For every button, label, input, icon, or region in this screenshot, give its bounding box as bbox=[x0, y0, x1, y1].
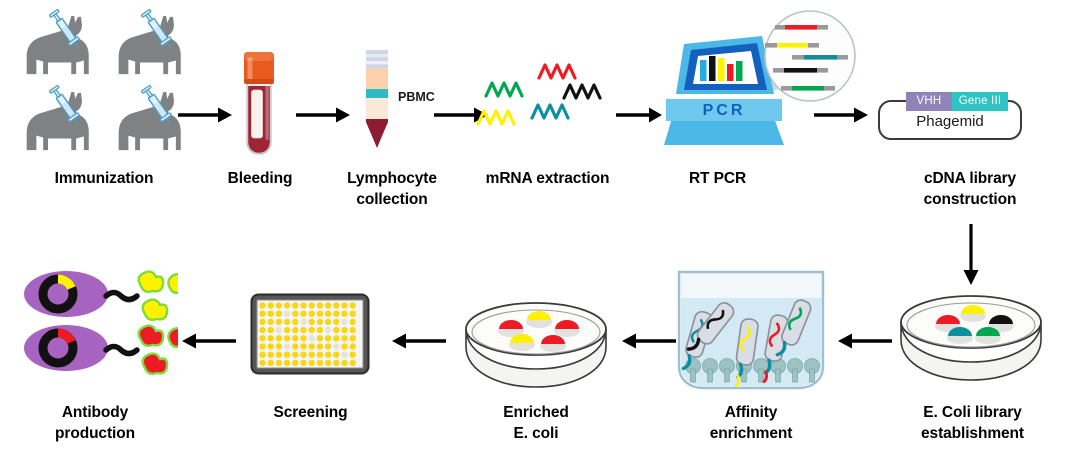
arrow-affinity-to-enriched bbox=[622, 330, 678, 352]
well bbox=[317, 327, 323, 333]
well bbox=[292, 302, 298, 308]
step-label-bleeding: Bleeding bbox=[195, 169, 325, 190]
well bbox=[276, 343, 282, 349]
well bbox=[309, 302, 315, 308]
well bbox=[292, 343, 298, 349]
red-antibody-products bbox=[139, 326, 178, 374]
well bbox=[276, 352, 282, 358]
well bbox=[268, 302, 274, 308]
antibody-production-icon-group bbox=[18, 268, 178, 393]
well bbox=[317, 335, 323, 341]
well bbox=[309, 319, 315, 325]
well bbox=[284, 360, 290, 366]
well bbox=[317, 302, 323, 308]
immunization-icon-group bbox=[14, 8, 194, 160]
step-label-cdna-library: cDNA library construction bbox=[890, 169, 1050, 211]
well bbox=[341, 352, 347, 358]
well bbox=[276, 327, 282, 333]
blood-collection-tube-icon bbox=[232, 48, 286, 160]
well bbox=[341, 302, 347, 308]
well bbox=[292, 360, 298, 366]
well bbox=[350, 352, 356, 358]
step-label-affinity-enrichment: Affinity enrichment bbox=[672, 403, 830, 445]
well bbox=[284, 335, 290, 341]
well bbox=[325, 343, 331, 349]
well bbox=[317, 352, 323, 358]
well bbox=[350, 311, 356, 317]
well bbox=[284, 352, 290, 358]
well bbox=[259, 352, 265, 358]
well bbox=[300, 311, 306, 317]
petri-dish-icon bbox=[895, 288, 1047, 392]
pcr-thermocycler-icon: PCR bbox=[662, 6, 862, 156]
step-label-lymphocyte-collection: Lymphocyte collection bbox=[320, 169, 464, 211]
well bbox=[325, 302, 331, 308]
step-label-antibody-production: Antibody production bbox=[15, 403, 175, 445]
well bbox=[350, 319, 356, 325]
well bbox=[341, 319, 347, 325]
mrna-extraction-icon-group bbox=[476, 58, 612, 149]
well bbox=[300, 343, 306, 349]
well bbox=[309, 360, 315, 366]
ecoli-library-icon-group bbox=[895, 288, 1047, 397]
affinity-enrichment-icon-group bbox=[673, 270, 829, 397]
well bbox=[333, 311, 339, 317]
well bbox=[292, 327, 298, 333]
well bbox=[333, 302, 339, 308]
well bbox=[309, 327, 315, 333]
arrow-immunization-to-bleeding bbox=[176, 104, 234, 126]
arrow-ecoli-to-affinity bbox=[838, 330, 894, 352]
well bbox=[259, 302, 265, 308]
arrow-enriched-to-screening bbox=[392, 330, 448, 352]
well bbox=[276, 319, 282, 325]
phagemid-segment-vhh: VHH bbox=[906, 92, 952, 111]
well bbox=[325, 311, 331, 317]
well bbox=[292, 352, 298, 358]
rt-pcr-icon-group: PCR bbox=[662, 6, 862, 161]
bleeding-icon-group bbox=[232, 48, 286, 165]
well bbox=[341, 335, 347, 341]
well bbox=[300, 319, 306, 325]
well bbox=[309, 335, 315, 341]
step-label-rt-pcr: RT PCR bbox=[640, 169, 795, 190]
well bbox=[350, 360, 356, 366]
alpaca-with-syringe-icon bbox=[14, 8, 194, 160]
well bbox=[268, 335, 274, 341]
well bbox=[292, 319, 298, 325]
step-label-immunization: Immunization bbox=[14, 169, 194, 190]
well bbox=[341, 360, 347, 366]
well bbox=[325, 335, 331, 341]
step-label-mrna-extraction: mRNA extraction bbox=[465, 169, 630, 190]
well bbox=[259, 319, 265, 325]
yellow-antibody-products bbox=[139, 272, 178, 320]
phage-panning-well-icon bbox=[673, 270, 829, 392]
yellow-clone-cell bbox=[24, 271, 137, 317]
well bbox=[259, 335, 265, 341]
mrna-strands-icon bbox=[476, 58, 612, 144]
well bbox=[268, 360, 274, 366]
well bbox=[276, 311, 282, 317]
well bbox=[259, 343, 265, 349]
well bbox=[268, 311, 274, 317]
well bbox=[309, 311, 315, 317]
well bbox=[276, 302, 282, 308]
step-label-ecoli-library: E. Coli library establishment bbox=[890, 403, 1055, 445]
well bbox=[268, 319, 274, 325]
well bbox=[333, 335, 339, 341]
pbmc-band-label: PBMC bbox=[398, 90, 435, 104]
well bbox=[300, 352, 306, 358]
well bbox=[309, 352, 315, 358]
well bbox=[333, 343, 339, 349]
well bbox=[350, 335, 356, 341]
well bbox=[300, 360, 306, 366]
well bbox=[284, 302, 290, 308]
well bbox=[333, 360, 339, 366]
well bbox=[317, 343, 323, 349]
well bbox=[268, 352, 274, 358]
screening-icon-group bbox=[250, 293, 370, 380]
well bbox=[341, 327, 347, 333]
well bbox=[333, 319, 339, 325]
well bbox=[284, 319, 290, 325]
cdna-library-icon-group: VHH Gene III Phagemid bbox=[878, 92, 1022, 140]
well bbox=[284, 327, 290, 333]
petri-dish-icon bbox=[460, 295, 612, 399]
well bbox=[268, 343, 274, 349]
well bbox=[325, 360, 331, 366]
pcr-machine-text: PCR bbox=[703, 102, 746, 119]
well bbox=[317, 311, 323, 317]
well bbox=[292, 311, 298, 317]
arrow-screening-to-antibody bbox=[182, 330, 238, 352]
well bbox=[292, 335, 298, 341]
well bbox=[309, 343, 315, 349]
well bbox=[300, 335, 306, 341]
step-label-screening: Screening bbox=[238, 403, 383, 424]
red-clone-cell bbox=[24, 325, 137, 371]
gradient-centrifuge-tube-icon bbox=[357, 48, 397, 152]
well bbox=[259, 311, 265, 317]
well bbox=[341, 311, 347, 317]
well bbox=[284, 343, 290, 349]
well bbox=[259, 327, 265, 333]
lymphocyte-collection-icon-group bbox=[357, 48, 397, 157]
well bbox=[300, 327, 306, 333]
arrow-mrna-to-rtpcr bbox=[614, 104, 664, 126]
well bbox=[325, 352, 331, 358]
well bbox=[259, 360, 265, 366]
arrow-rtpcr-to-cdna bbox=[812, 104, 870, 126]
phagemid-name-label: Phagemid bbox=[878, 113, 1022, 130]
well bbox=[317, 319, 323, 325]
well bbox=[325, 319, 331, 325]
enriched-ecoli-icon-group bbox=[460, 295, 612, 404]
well bbox=[350, 327, 356, 333]
well bbox=[333, 352, 339, 358]
well bbox=[300, 302, 306, 308]
well bbox=[276, 360, 282, 366]
arrow-bleeding-to-lymphocyte bbox=[294, 104, 352, 126]
well bbox=[317, 360, 323, 366]
well bbox=[268, 327, 274, 333]
well bbox=[350, 343, 356, 349]
well bbox=[350, 302, 356, 308]
well bbox=[276, 335, 282, 341]
well bbox=[284, 311, 290, 317]
phagemid-segment-gene3: Gene III bbox=[952, 92, 1008, 111]
expression-cell-icon bbox=[18, 268, 178, 388]
workflow-diagram: Immunization Bleeding bbox=[0, 0, 1071, 456]
well bbox=[325, 327, 331, 333]
well bbox=[333, 327, 339, 333]
arrow-cdna-to-ecoli bbox=[960, 222, 982, 288]
step-label-enriched-ecoli: Enriched E. coli bbox=[460, 403, 612, 445]
well bbox=[341, 343, 347, 349]
microplate-icon bbox=[250, 293, 370, 375]
